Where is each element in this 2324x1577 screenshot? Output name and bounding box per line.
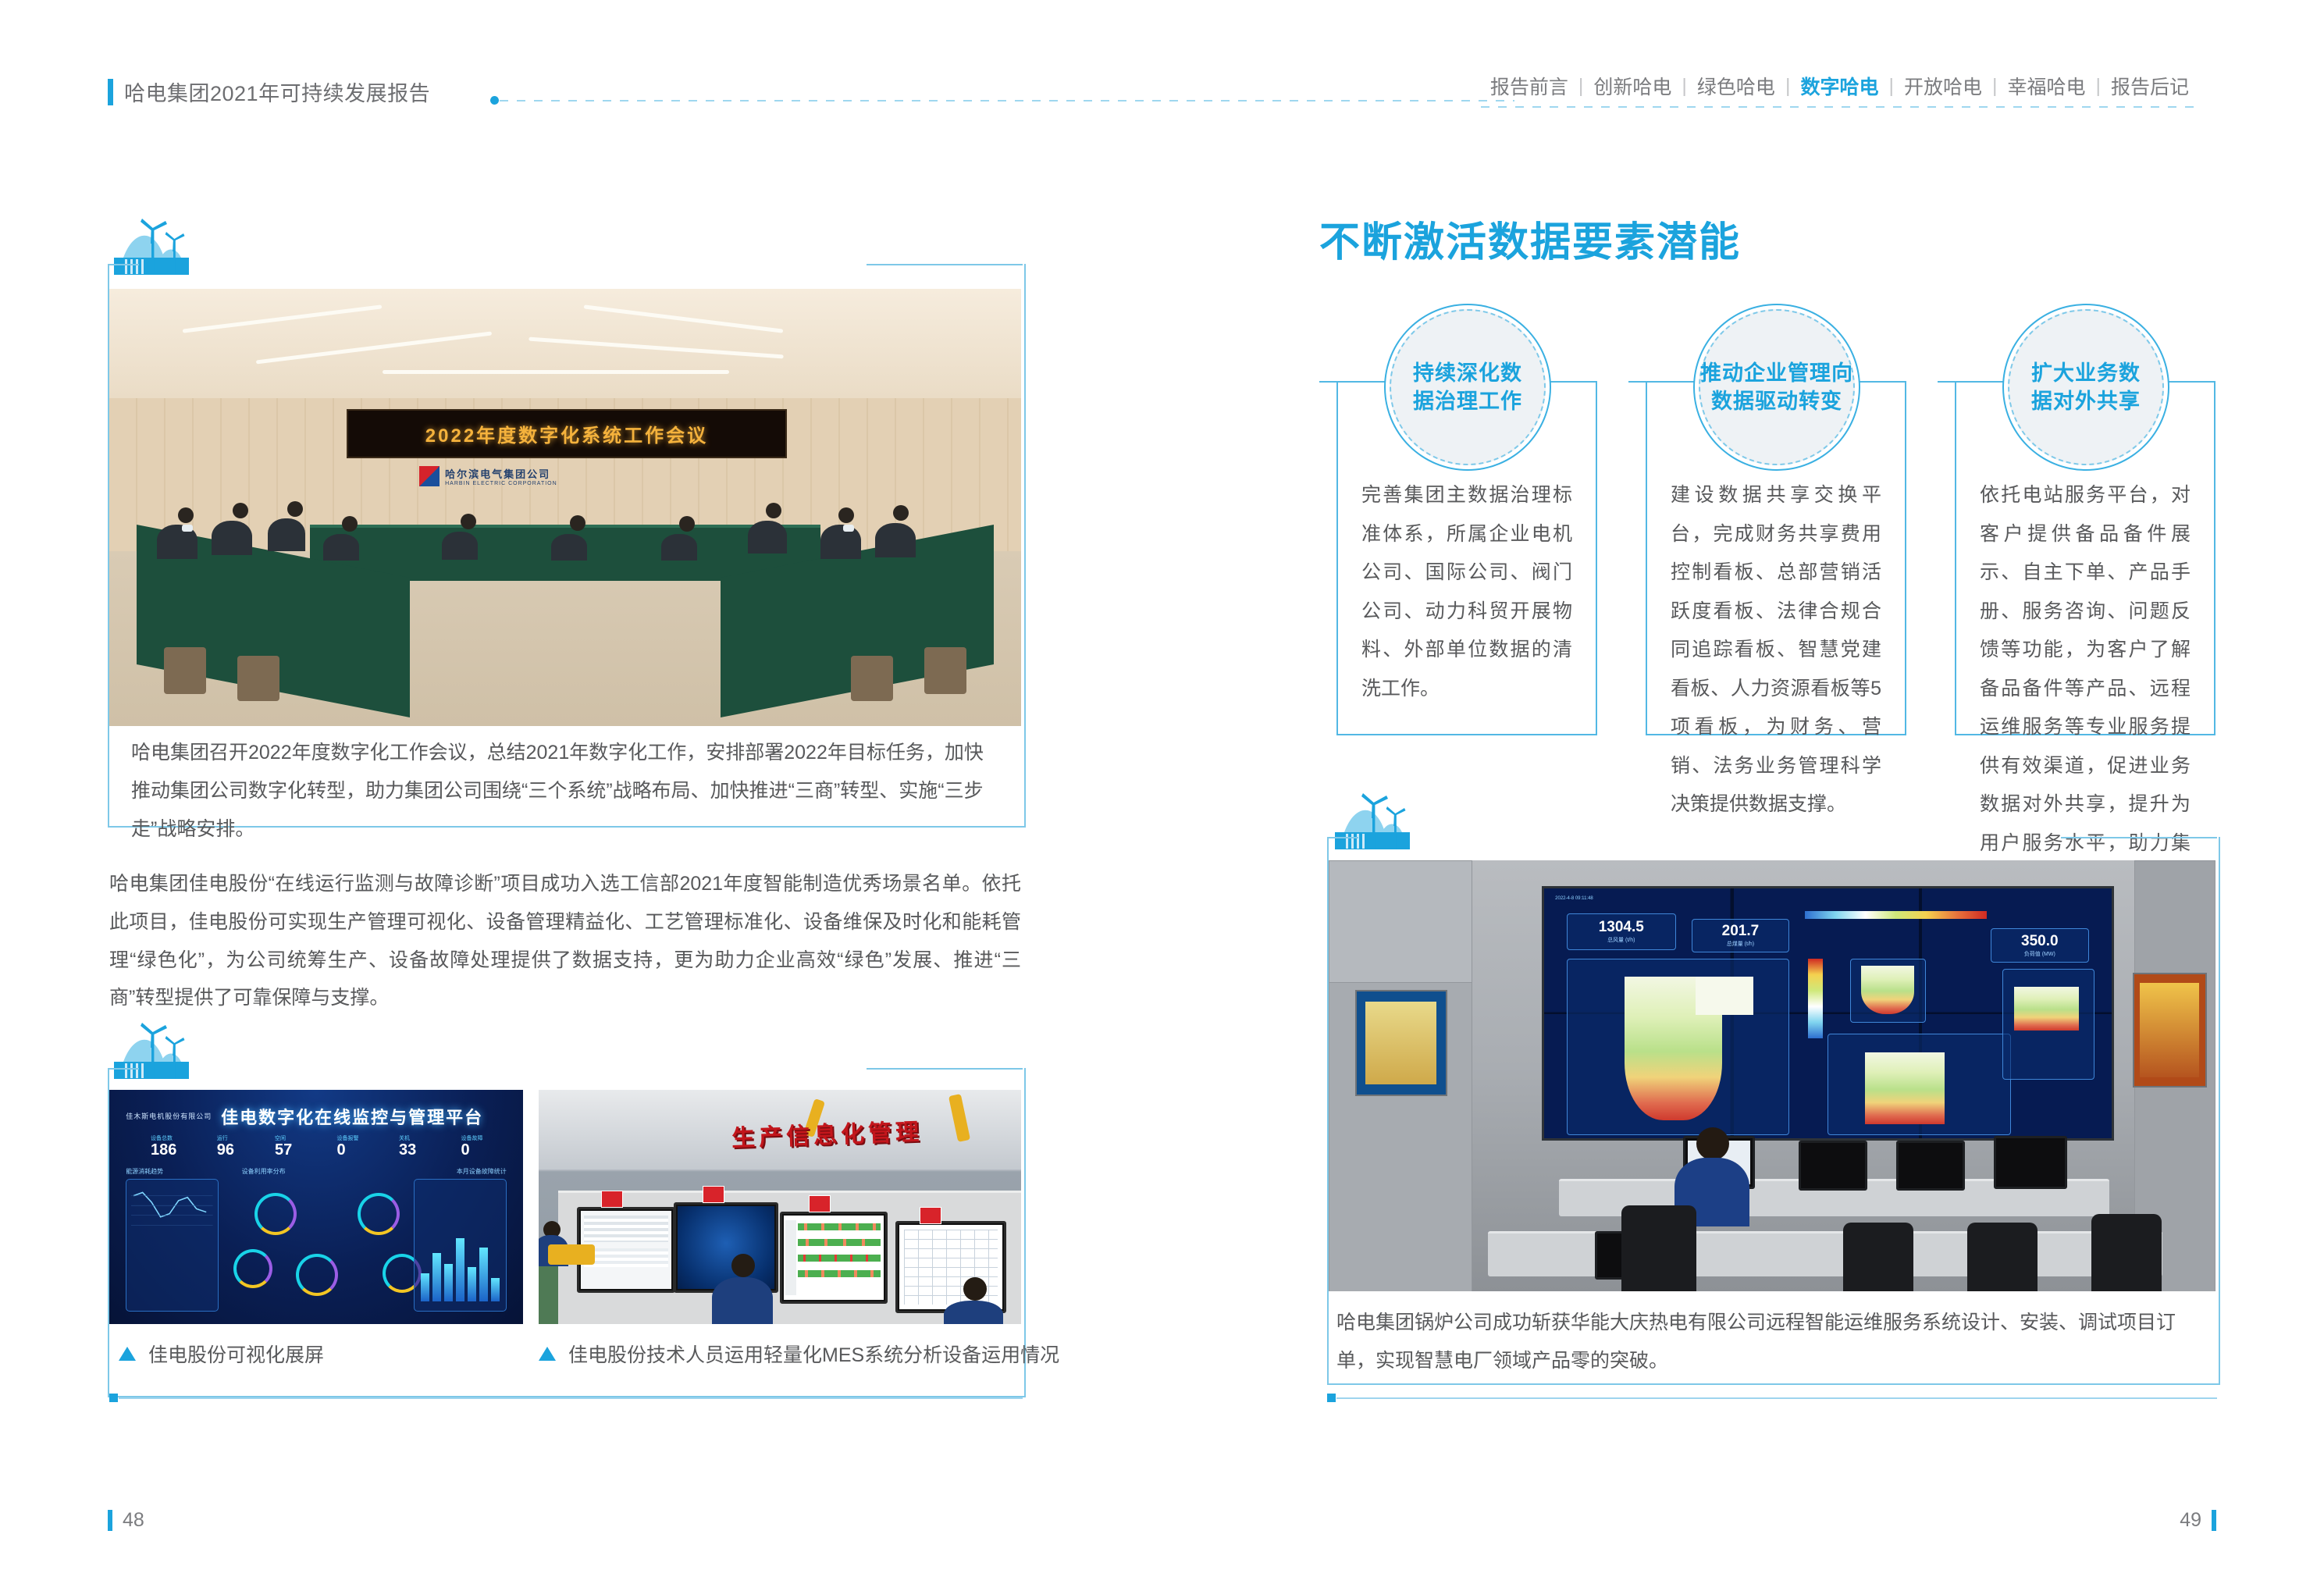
office-chair <box>1843 1223 1913 1291</box>
person-body <box>875 523 916 557</box>
page-number-right-text: 49 <box>2180 1509 2201 1532</box>
header-dot-marker <box>490 96 499 105</box>
monitor <box>895 1221 1006 1313</box>
info-card <box>601 1191 623 1208</box>
kpi-value: 0 <box>461 1142 470 1158</box>
dashboard-title: 佳电数字化在线监控与管理平台 <box>221 1104 483 1129</box>
aux-view <box>2002 969 2094 1080</box>
card-2-body: 建设数据共享交换平台，完成财务共享费用控制看板、总部营销活跃度看板、法律合规合同… <box>1671 476 1881 824</box>
triangle-marker-icon <box>119 1347 136 1361</box>
kpi-label: 负荷值 (MW) <box>2024 950 2055 958</box>
meeting-caption: 哈电集团召开2022年度数字化工作会议，总结2021年数字化工作，安排部署202… <box>131 734 1002 848</box>
card-2-right-tick <box>1859 381 1903 383</box>
videowall-kpi: 350.0 负荷值 (MW) <box>1991 928 2089 963</box>
side-display <box>2133 973 2207 1088</box>
heat-legend-vertical <box>1808 959 1823 1038</box>
nav-item-6[interactable]: 报告后记 <box>2101 72 2199 100</box>
kpi-label: 总煤量 (t/h) <box>1727 940 1754 948</box>
office-chair <box>1967 1223 2038 1291</box>
dashboard-kpi: 关机 33 <box>399 1134 416 1158</box>
nav-item-2[interactable]: 绿色哈电 <box>1687 72 1785 100</box>
card-1-left-tick <box>1319 381 1382 383</box>
page-number-left-text: 48 <box>123 1509 144 1532</box>
card-2-left-tick <box>1628 381 1691 383</box>
card-1-body: 完善集团主数据治理标准体系，所属企业电机公司、国际公司、阀门公司、动力科贸开展物… <box>1361 476 1572 708</box>
desk-monitor <box>1896 1141 1965 1191</box>
office-chair <box>1621 1205 1696 1291</box>
worker-head <box>731 1254 755 1277</box>
logo-cn-text: 哈尔滨电气集团公司 <box>445 466 557 481</box>
dashboard-kpi: 运行 96 <box>217 1134 234 1158</box>
side-display <box>1355 990 1447 1096</box>
right-bottom-marker <box>1327 1394 1336 1402</box>
card-1-title: 持续深化数 据治理工作 <box>1413 359 1522 416</box>
meeting-photo: 2022年度数字化系统工作会议 哈尔滨电气集团公司 HARBIN ELECTRI… <box>109 289 1021 726</box>
panel-title: 本月设备故障统计 <box>457 1167 507 1176</box>
person-body <box>551 534 587 561</box>
card-2-bubble: 推动企业管理向 数据驱动转变 <box>1699 309 1855 465</box>
card-1-right-tick <box>1550 381 1594 383</box>
videowall-kpi: 201.7 总煤量 (t/h) <box>1692 919 1790 953</box>
gauge <box>296 1254 338 1296</box>
kpi-value: 57 <box>275 1142 292 1158</box>
video-wall: 2022-4-8 09:11:48 1304.5 总风量 (t/h) 201.7… <box>1542 886 2114 1141</box>
header-accent-bar <box>108 79 113 105</box>
person-head <box>287 501 303 517</box>
nav-item-3-active[interactable]: 数字哈电 <box>1790 72 1888 100</box>
burner-view <box>1850 959 1926 1023</box>
nav-item-5[interactable]: 幸福哈电 <box>1997 72 2095 100</box>
person-head <box>570 515 585 531</box>
card-1-bubble: 持续深化数 据治理工作 <box>1390 309 1546 465</box>
gauge <box>254 1193 297 1235</box>
logo-en-text: HARBIN ELECTRIC CORPORATION <box>445 481 557 486</box>
nav-item-1[interactable]: 创新哈电 <box>1583 72 1682 100</box>
card-3-title: 扩大业务数 据对外共享 <box>2031 359 2141 416</box>
page-number-left: 48 <box>108 1509 144 1532</box>
left-bottom-rule <box>119 1397 1023 1399</box>
office-chair <box>2091 1214 2162 1291</box>
person-body <box>212 521 252 555</box>
section-title: 不断激活数据要素潜能 <box>1319 209 1741 268</box>
control-room-photo: 2022-4-8 09:11:48 1304.5 总风量 (t/h) 201.7… <box>1329 860 2215 1291</box>
card-3-bubble: 扩大业务数 据对外共享 <box>2008 309 2164 465</box>
page-accent-bar <box>2212 1510 2216 1531</box>
info-card <box>703 1186 724 1203</box>
dashboard-kpi: 设备报警 0 <box>337 1134 359 1158</box>
person-head <box>233 503 248 518</box>
dashboard-bar-panel <box>414 1179 507 1312</box>
page-accent-bar <box>108 1510 112 1531</box>
kpi-value: 0 <box>337 1142 346 1158</box>
header-nav-dashed-rule <box>1481 106 2199 108</box>
card-3-right-tick <box>2168 381 2212 383</box>
frame-corner-left <box>1327 837 1358 838</box>
monitor <box>780 1212 888 1304</box>
person-body <box>661 534 697 561</box>
heat-legend <box>1805 911 1987 919</box>
header-report-title: 哈电集团2021年可持续发展报告 <box>108 77 430 107</box>
right-bottom-rule <box>1336 1397 2217 1399</box>
chair <box>924 647 966 694</box>
chair <box>237 656 279 701</box>
operator-desk-front <box>1488 1231 2162 1276</box>
triangle-marker-icon <box>539 1347 556 1361</box>
person-head <box>178 507 194 523</box>
image-caption-right: 佳电股份技术人员运用轻量化MES系统分析设备运用情况 <box>539 1340 1059 1368</box>
image-caption-left: 佳电股份可视化展屏 <box>119 1340 324 1368</box>
nav-item-4[interactable]: 开放哈电 <box>1894 72 1992 100</box>
frame-corner-left <box>108 1068 139 1070</box>
image-caption-right-text: 佳电股份技术人员运用轻量化MES系统分析设备运用情况 <box>568 1340 1059 1368</box>
frame-corner-left <box>108 264 139 265</box>
meeting-banner: 2022年度数字化系统工作会议 <box>347 409 788 458</box>
photo-ceiling <box>109 289 1021 398</box>
chair <box>164 647 206 694</box>
dashboard-kpi: 设备总数 186 <box>151 1134 176 1158</box>
card-3-left-tick <box>1938 381 2000 383</box>
gauge <box>233 1249 272 1288</box>
frame-corner-right <box>867 264 1023 265</box>
info-card <box>920 1207 941 1224</box>
meeting-banner-text: 2022年度数字化系统工作会议 <box>425 420 708 447</box>
dashboard-kpi: 空闲 57 <box>275 1134 292 1158</box>
section-nav[interactable]: 报告前言 | 创新哈电 | 绿色哈电 | 数字哈电 | 开放哈电 | 幸福哈电 … <box>1480 72 2199 100</box>
kpi-value: 96 <box>217 1142 234 1158</box>
header-dashed-rule <box>500 100 1514 101</box>
panel-title: 能源消耗趋势 <box>126 1167 163 1176</box>
left-bottom-marker <box>109 1394 118 1402</box>
boiler-view-panel <box>1567 959 1790 1135</box>
mes-banner-text: 生产信息化管理 <box>731 1112 923 1154</box>
kpi-value: 33 <box>399 1142 416 1158</box>
header-title-text: 哈电集团2021年可持续发展报告 <box>124 77 430 107</box>
person-body <box>820 525 861 559</box>
panel-title: 设备利用率分布 <box>242 1167 286 1176</box>
frame-corner-right <box>2061 837 2217 838</box>
report-spread: 哈电集团2021年可持续发展报告 报告前言 | 创新哈电 | 绿色哈电 | 数字… <box>0 0 2324 1577</box>
person-head <box>461 514 476 529</box>
face-mask <box>843 525 854 532</box>
dashboard-chart-panel <box>126 1179 219 1312</box>
desk-monitor <box>1994 1136 2067 1189</box>
yellow-cart <box>548 1244 595 1265</box>
person-head <box>342 516 358 532</box>
nav-item-0[interactable]: 报告前言 <box>1480 72 1578 100</box>
face-mask <box>182 525 193 532</box>
page-number-right: 49 <box>2180 1509 2216 1532</box>
desk-monitor <box>1799 1141 1867 1191</box>
worker-body <box>944 1301 1003 1324</box>
videowall-kpi: 1304.5 总风量 (t/h) <box>1567 913 1676 950</box>
kpi-label: 总风量 (t/h) <box>1607 936 1635 944</box>
kpi-value: 186 <box>151 1142 176 1158</box>
worker-body <box>712 1277 773 1324</box>
card-2-title: 推动企业管理向 数据驱动转变 <box>1700 359 1853 416</box>
chair <box>851 656 893 701</box>
section-view <box>1828 1034 2011 1135</box>
dashboard-photo: 佳木斯电机股份有限公司 佳电数字化在线监控与管理平台 设备总数 186 运行 9… <box>109 1090 523 1324</box>
kpi-value: 350.0 <box>2021 934 2059 950</box>
frame-corner-right <box>867 1068 1023 1070</box>
dashboard-brand: 佳木斯电机股份有限公司 <box>126 1111 212 1121</box>
dashboard-kpi: 设备故障 0 <box>461 1134 483 1158</box>
worker-head <box>963 1277 987 1301</box>
person-body <box>748 521 787 554</box>
person-body <box>268 518 305 551</box>
mes-photo: 生产信息化管理 <box>539 1090 1021 1324</box>
person-body <box>442 532 478 560</box>
image-caption-left-text: 佳电股份可视化展屏 <box>148 1340 324 1368</box>
control-room-caption: 哈电集团锅炉公司成功斩获华能大庆热电有限公司远程智能运维服务系统设计、安装、调试… <box>1336 1304 2214 1380</box>
harbin-electric-logo: 哈尔滨电气集团公司 HARBIN ELECTRIC CORPORATION <box>419 466 557 486</box>
info-card <box>809 1195 831 1212</box>
kpi-value: 201.7 <box>1722 924 1760 940</box>
kpi-value: 1304.5 <box>1599 920 1644 936</box>
person-body <box>323 534 359 561</box>
gauge <box>358 1193 400 1235</box>
body-paragraph: 哈电集团佳电股份“在线运行监测与故障诊断”项目成功入选工信部2021年度智能制造… <box>109 865 1021 1017</box>
logo-mark-icon <box>419 466 440 486</box>
